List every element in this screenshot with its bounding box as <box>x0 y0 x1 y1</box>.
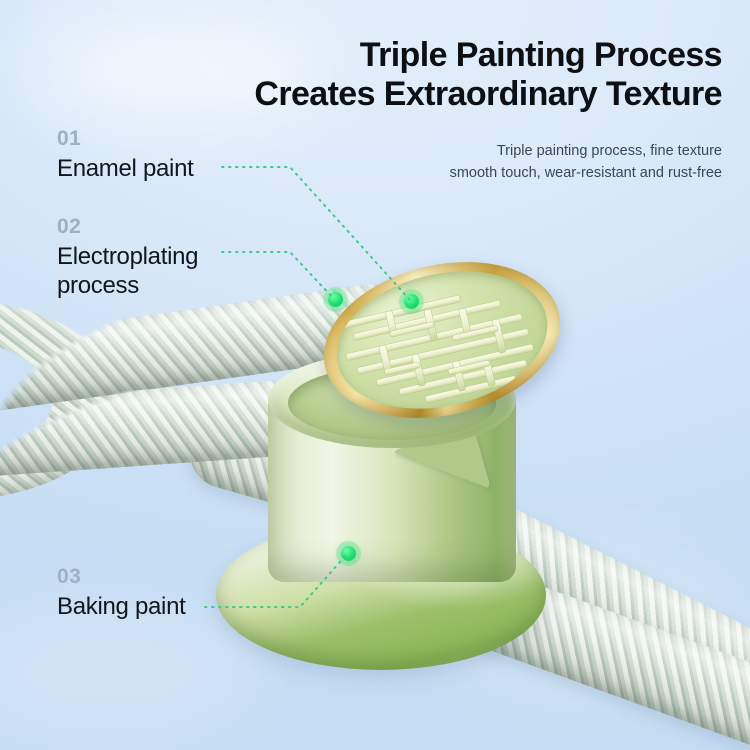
title-line-1: Triple Painting Process <box>360 36 722 74</box>
leader-line-02 <box>222 252 334 299</box>
callout-02-number: 02 <box>57 215 198 239</box>
callout-02: 02 Electroplating process <box>57 215 198 300</box>
callout-01-label: Enamel paint <box>57 154 194 183</box>
subtitle-line-2: smooth touch, wear-resistant and rust-fr… <box>372 162 722 184</box>
callout-01-number: 01 <box>57 127 194 151</box>
product-marketing-banner: Triple Painting Process Creates Extraord… <box>0 0 750 750</box>
title-line-2: Creates Extraordinary Texture <box>228 75 722 114</box>
page-title: Triple Painting Process Creates Extraord… <box>228 36 722 114</box>
leader-line-03 <box>205 553 348 607</box>
callout-03-number: 03 <box>57 565 186 589</box>
callout-03: 03 Baking paint <box>57 565 186 621</box>
subtitle-line-1: Triple painting process, fine texture <box>372 140 722 162</box>
callout-02-label: Electroplating process <box>57 242 198 300</box>
callout-03-label: Baking paint <box>57 592 186 621</box>
callout-01: 01 Enamel paint <box>57 127 194 183</box>
page-subtitle: Triple painting process, fine texture sm… <box>372 140 722 184</box>
